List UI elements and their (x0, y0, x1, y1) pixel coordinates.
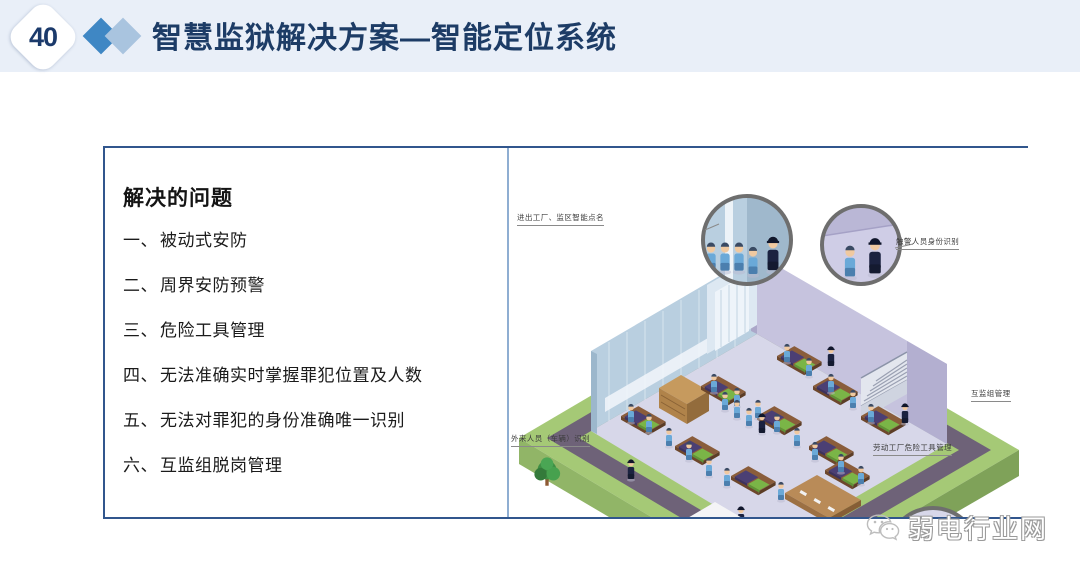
slide-header: 40 智慧监狱解决方案—智能定位系统 (0, 0, 1080, 72)
list-item-label: 无法对罪犯的身份准确唯一识别 (160, 411, 405, 430)
list-item-label: 周界安防预警 (160, 276, 265, 295)
list-item-number: 三、 (123, 321, 158, 340)
problems-column: 解决的问题 一、被动式安防 二、周界安防预警 三、危险工具管理 四、无法准确实时… (105, 148, 507, 517)
callout-label-gate-roll-call: 进出工厂、监区智能点名 (517, 212, 604, 226)
wechat-icon (866, 513, 900, 541)
callout-label-dangerous-tools: 劳动工厂危险工具管理 (873, 442, 952, 456)
list-item-number: 六、 (123, 456, 158, 475)
watermark-text: 弱电行业网 (908, 509, 1048, 546)
list-item-label: 无法准确实时掌握罪犯位置及人数 (160, 366, 423, 385)
callout-guard-identity (822, 206, 900, 284)
logo-diamond-secondary (105, 18, 142, 55)
slide-number-badge: 40 (10, 4, 76, 70)
badge-number-label: 40 (10, 4, 76, 70)
list-item: 一、被动式安防 (123, 232, 493, 249)
list-item-number: 二、 (123, 276, 158, 295)
problems-heading: 解决的问题 (123, 182, 233, 212)
isometric-scene-svg (509, 148, 1028, 517)
list-item-label: 危险工具管理 (160, 321, 265, 340)
page-title: 智慧监狱解决方案—智能定位系统 (152, 13, 617, 57)
list-item-label: 被动式安防 (160, 231, 248, 250)
slide-root: 40 智慧监狱解决方案—智能定位系统 解决的问题 一、被动式安防 二、周界安防预… (0, 0, 1080, 573)
list-item: 六、互监组脱岗管理 (123, 457, 493, 474)
list-item-number: 五、 (123, 411, 158, 430)
watermark: 弱电行业网 (866, 505, 1076, 549)
list-item: 五、无法对罪犯的身份准确唯一识别 (123, 412, 493, 429)
callout-label-guard-identity: 触警人员身份识别 (896, 236, 959, 250)
prison-workshop-isometric-diagram: 进出工厂、监区智能点名 触警人员身份识别 外来人员（车辆）识别 互监组管理 劳动… (509, 148, 1028, 517)
list-item-number: 四、 (123, 366, 158, 385)
callout-gate-roll-call (703, 196, 791, 284)
list-item: 四、无法准确实时掌握罪犯位置及人数 (123, 367, 493, 384)
content-panel: 解决的问题 一、被动式安防 二、周界安防预警 三、危险工具管理 四、无法准确实时… (103, 146, 1028, 519)
list-item: 二、周界安防预警 (123, 277, 493, 294)
double-diamond-logo-icon (86, 18, 152, 56)
list-item-label: 互监组脱岗管理 (160, 456, 283, 475)
list-item: 三、危险工具管理 (123, 322, 493, 339)
callout-label-mutual-supervision: 互监组管理 (971, 388, 1011, 402)
callout-label-visitor-vehicle: 外来人员（车辆）识别 (511, 433, 590, 447)
problems-list: 一、被动式安防 二、周界安防预警 三、危险工具管理 四、无法准确实时掌握罪犯位置… (123, 232, 493, 502)
list-item-number: 一、 (123, 231, 158, 250)
